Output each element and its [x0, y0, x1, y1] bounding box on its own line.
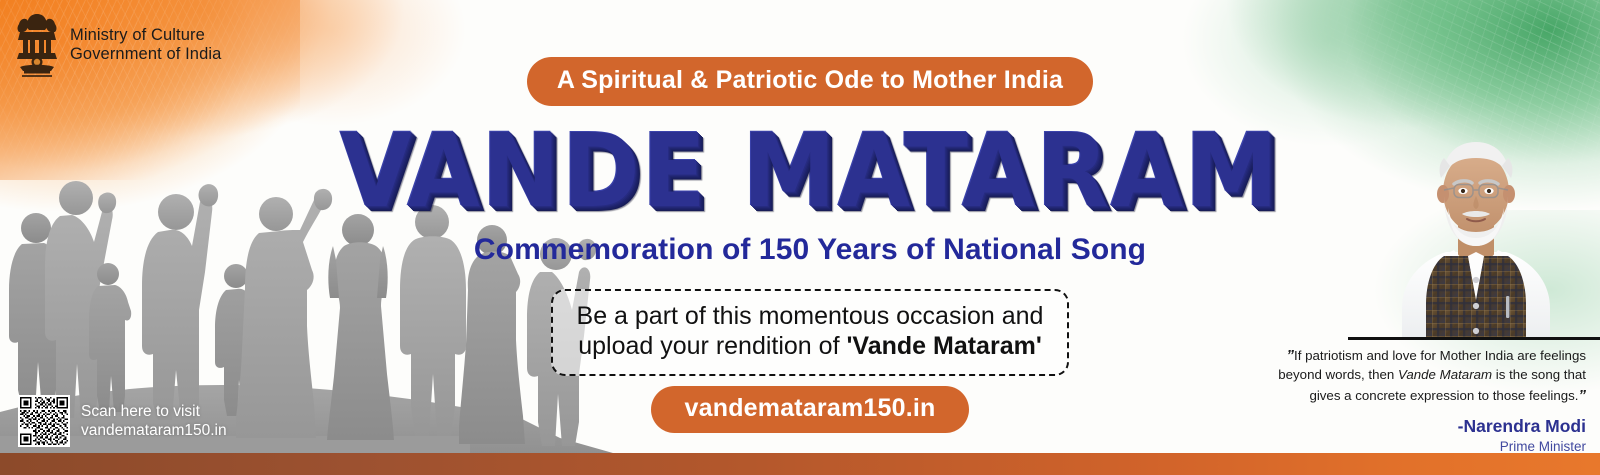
- cta-line-2: upload your rendition of 'Vande Mataram': [577, 331, 1044, 362]
- center-content: A Spiritual & Patriotic Ode to Mother In…: [430, 0, 1190, 445]
- quote-divider: [1348, 337, 1600, 340]
- ministry-label: Ministry of Culture Government of India: [70, 26, 221, 65]
- quote-block: ”If patriotism and love for Mother India…: [1276, 345, 1586, 454]
- ministry-line-1: Ministry of Culture: [70, 26, 205, 44]
- bottom-accent-bar: [0, 453, 1600, 475]
- cta-line-2-prefix: upload your rendition of: [578, 332, 846, 360]
- qr-caption-line-1: Scan here to visit: [81, 403, 200, 420]
- ashoka-lion-capital-emblem-icon: [14, 12, 60, 78]
- page-title: VANDE MATARAM: [340, 124, 1280, 221]
- quote-text: ”If patriotism and love for Mother India…: [1276, 345, 1586, 406]
- prime-minister-portrait: [1380, 128, 1572, 340]
- ministry-line-2: Government of India: [70, 45, 221, 63]
- page-subtitle: Commemoration of 150 Years of National S…: [474, 233, 1146, 267]
- ministry-logo: Ministry of Culture Government of India: [14, 12, 221, 78]
- tagline-pill: A Spiritual & Patriotic Ode to Mother In…: [527, 57, 1093, 106]
- vande-mataram-banner: Ministry of Culture Government of India …: [0, 0, 1600, 475]
- qr-code-icon[interactable]: [18, 395, 70, 447]
- quote-close-mark: ”: [1579, 387, 1587, 404]
- cta-line-2-emphasis: 'Vande Mataram': [846, 332, 1041, 360]
- quote-italic-phrase: Vande Mataram: [1398, 367, 1492, 382]
- cta-line-1: Be a part of this momentous occasion and: [577, 301, 1044, 332]
- qr-caption-line-2: vandemataram150.in: [81, 422, 227, 439]
- quote-attribution: -Narendra Modi: [1276, 416, 1586, 437]
- website-url-button[interactable]: vandemataram150.in: [651, 386, 970, 433]
- call-to-action-box: Be a part of this momentous occasion and…: [551, 289, 1070, 376]
- qr-code-block[interactable]: Scan here to visit vandemataram150.in: [18, 395, 227, 447]
- qr-code-caption: Scan here to visit vandemataram150.in: [81, 402, 227, 441]
- quote-open-mark: ”: [1287, 347, 1295, 364]
